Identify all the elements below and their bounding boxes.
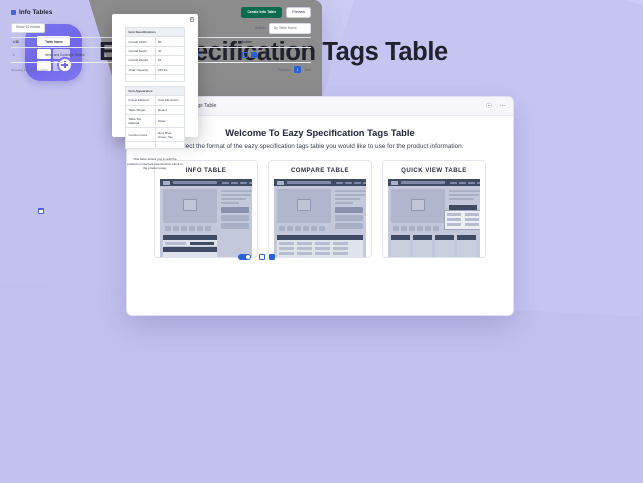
search-label: Search: bbox=[255, 26, 266, 30]
section-heading: Item Specifications bbox=[126, 28, 185, 37]
spec-row: Frame Material Cast Aluminium bbox=[126, 96, 185, 105]
info-search-input[interactable] bbox=[269, 23, 311, 34]
spec-value: 52 bbox=[155, 56, 185, 65]
modal-note-text: This table allows you to add the product… bbox=[119, 157, 191, 171]
info-table-wireframe bbox=[160, 179, 252, 257]
cell-action bbox=[240, 47, 311, 63]
card-title: QUICK VIEW TABLE bbox=[388, 167, 480, 174]
spec-value: Round bbox=[155, 105, 185, 114]
info-search-group: Search: bbox=[255, 23, 311, 34]
spec-key: Overall Weight bbox=[126, 56, 156, 65]
spec-value: Glass bbox=[155, 115, 185, 128]
spec-key-empty bbox=[126, 74, 156, 81]
specification-tables: Item Specifications Overall Width 80 Ove… bbox=[119, 27, 191, 149]
spec-value: Cast Aluminium bbox=[155, 96, 185, 105]
spec-value: 80 bbox=[155, 37, 185, 46]
spec-row: Overall Width 80 bbox=[126, 37, 185, 46]
item-appearance-table: Item Appearance Frame Material Cast Alum… bbox=[125, 86, 185, 149]
cell-id: 1 bbox=[11, 47, 43, 63]
spec-row: Table Shape Round bbox=[126, 105, 185, 114]
spec-value-empty bbox=[155, 141, 185, 148]
edit-icon[interactable] bbox=[242, 52, 248, 58]
duplicate-icon[interactable] bbox=[269, 254, 275, 260]
edit-icon[interactable] bbox=[259, 254, 265, 260]
spec-value: 40 bbox=[155, 46, 185, 55]
info-tables-title: Info Tables bbox=[19, 9, 52, 16]
spec-key-empty bbox=[126, 141, 156, 148]
spec-key: Overall Width bbox=[126, 37, 156, 46]
info-tables-screen: Info Tables Create Info Table Preview Sh… bbox=[0, 0, 322, 185]
showing-entries-text: Showing 1 to 1 of 1 entries bbox=[11, 68, 48, 72]
quick-view-table-wireframe bbox=[388, 179, 480, 257]
spec-row: Cushion Color Red, Blue, Green, Tan bbox=[126, 128, 185, 141]
spec-row-empty bbox=[126, 74, 185, 81]
item-specifications-table: Item Specifications Overall Width 80 Ove… bbox=[125, 27, 185, 82]
spec-value: Red, Blue, Green, Tan bbox=[155, 128, 185, 141]
spec-row: Table Top Material Glass bbox=[126, 115, 185, 128]
card-quick-view-table[interactable]: QUICK VIEW TABLE bbox=[382, 160, 486, 258]
compare-table-wireframe bbox=[274, 179, 366, 257]
section-heading: Item Appearance bbox=[126, 86, 185, 95]
status-toggle[interactable] bbox=[238, 254, 251, 261]
column-action[interactable]: Action bbox=[240, 37, 311, 47]
close-icon[interactable]: × bbox=[190, 17, 195, 22]
spec-key: Chair Capacity bbox=[126, 65, 156, 74]
specification-preview-modal: × Item Specifications Overall Width 80 O… bbox=[112, 14, 198, 137]
spec-key: Overall Depth bbox=[126, 46, 156, 55]
spec-row: Overall Weight 52 bbox=[126, 56, 185, 65]
column-id[interactable]: # ID bbox=[11, 37, 43, 47]
pin-icon[interactable]: ☉ bbox=[486, 103, 492, 110]
duplicate-icon[interactable] bbox=[251, 52, 257, 58]
info-tables-panel: Info Tables Create Info Table Preview Sh… bbox=[0, 0, 322, 185]
info-tables-actions: Create Info Table Preview bbox=[241, 7, 311, 18]
titlebar-actions: ☉ ⋯ bbox=[486, 103, 506, 110]
more-options-icon[interactable]: ⋯ bbox=[499, 103, 506, 110]
next-page-button[interactable]: Next bbox=[304, 68, 311, 72]
spec-row: Overall Depth 40 bbox=[126, 46, 185, 55]
section-heading-row: Item Specifications bbox=[126, 28, 185, 37]
spec-key: Frame Material bbox=[126, 96, 156, 105]
current-page-button[interactable]: 1 bbox=[294, 66, 302, 73]
spec-value-empty bbox=[155, 74, 185, 81]
previous-page-button[interactable]: Previous bbox=[278, 68, 290, 72]
comparison-tables-logo bbox=[38, 208, 44, 214]
pagination: Previous 1 Next bbox=[278, 66, 311, 73]
entries-select[interactable]: Show 10 entries bbox=[11, 23, 45, 33]
info-tables-logo bbox=[11, 10, 16, 15]
spec-row-empty bbox=[126, 141, 185, 148]
spec-value: 250 lbs bbox=[155, 65, 185, 74]
preview-button[interactable]: Preview bbox=[286, 7, 311, 18]
section-heading-row: Item Appearance bbox=[126, 86, 185, 95]
spec-row: Chair Capacity 250 lbs bbox=[126, 65, 185, 74]
create-info-table-button[interactable]: Create Info Table bbox=[241, 7, 282, 18]
spec-key: Table Shape bbox=[126, 105, 156, 114]
spec-key: Table Top Material bbox=[126, 115, 156, 128]
spec-key: Cushion Color bbox=[126, 128, 156, 141]
